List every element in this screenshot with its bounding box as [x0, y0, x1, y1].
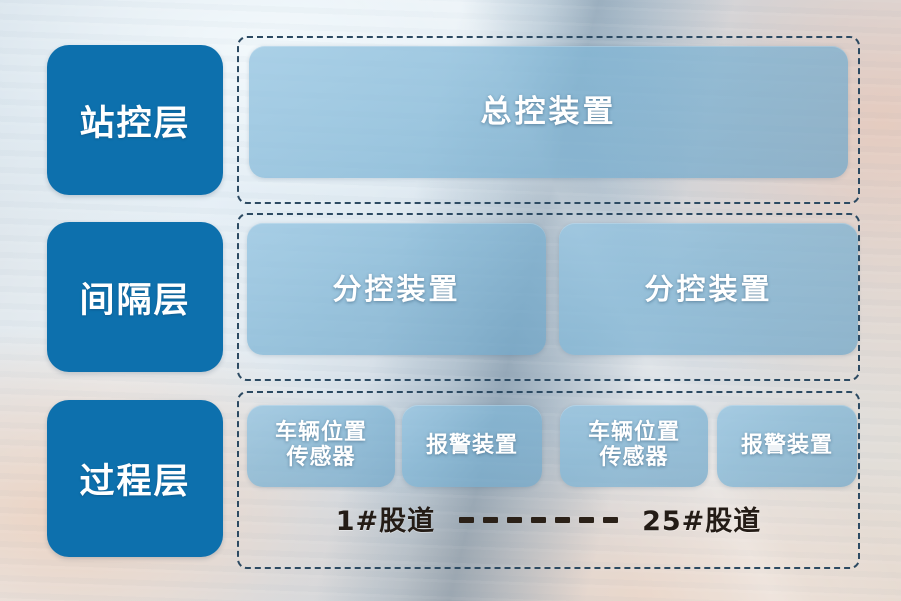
track-caption-strip: 1#股道 25#股道 [247, 497, 850, 539]
diagram-canvas: 站控层 总控装置 间隔层 分控装置 分控装置 [0, 0, 901, 601]
layer-label-text: 间隔层 [79, 272, 190, 323]
connector-dash [507, 517, 522, 523]
alarm-device-label-2: 报警装置 [741, 434, 833, 459]
dashed-container-bay: 分控装置 分控装置 [237, 213, 860, 381]
layer-label-station-control[interactable]: 站控层 [47, 45, 223, 195]
alarm-device-label-1: 报警装置 [426, 434, 518, 459]
layer-label-bay[interactable]: 间隔层 [47, 222, 223, 372]
sub-control-device-box-2[interactable]: 分控装置 [559, 223, 858, 355]
track-label-first: 1#股道 [336, 499, 435, 538]
layer-label-text: 过程层 [79, 453, 190, 504]
alarm-device-box-2[interactable]: 报警装置 [717, 405, 857, 487]
vehicle-position-sensor-box-1[interactable]: 车辆位置 传感器 [247, 405, 395, 487]
layer-row-station-control: 站控层 总控装置 [0, 45, 901, 195]
layer-row-process: 过程层 车辆位置 传感器 报警装置 车辆位置 传感器 报警装置 1#股道 [0, 400, 901, 557]
connector-dash [579, 517, 594, 523]
dashed-container-process: 车辆位置 传感器 报警装置 车辆位置 传感器 报警装置 1#股道 25#股道 [237, 391, 860, 569]
sub-control-device-label-1: 分控装置 [332, 273, 460, 305]
architecture-rows: 站控层 总控装置 间隔层 分控装置 分控装置 [0, 0, 901, 601]
sub-control-device-box-1[interactable]: 分控装置 [247, 223, 546, 355]
vehicle-position-sensor-label-1: 车辆位置 传感器 [275, 421, 367, 470]
master-control-device-box[interactable]: 总控装置 [249, 46, 848, 178]
layer-row-bay: 间隔层 分控装置 分控装置 [0, 222, 901, 372]
connector-dash [531, 517, 546, 523]
connector-dash [459, 517, 474, 523]
track-ellipsis-connector [459, 514, 618, 523]
alarm-device-box-1[interactable]: 报警装置 [402, 405, 542, 487]
layer-label-text: 站控层 [79, 95, 190, 146]
dashed-container-station-control: 总控装置 [237, 36, 860, 204]
sub-control-device-label-2: 分控装置 [644, 273, 772, 305]
connector-dash [555, 517, 570, 523]
connector-dash [483, 517, 498, 523]
layer-label-process[interactable]: 过程层 [47, 400, 223, 557]
master-control-device-label: 总控装置 [481, 95, 617, 130]
vehicle-position-sensor-box-2[interactable]: 车辆位置 传感器 [560, 405, 708, 487]
track-label-last: 25#股道 [642, 499, 761, 538]
vehicle-position-sensor-label-2: 车辆位置 传感器 [588, 421, 680, 470]
connector-dash [603, 517, 618, 523]
